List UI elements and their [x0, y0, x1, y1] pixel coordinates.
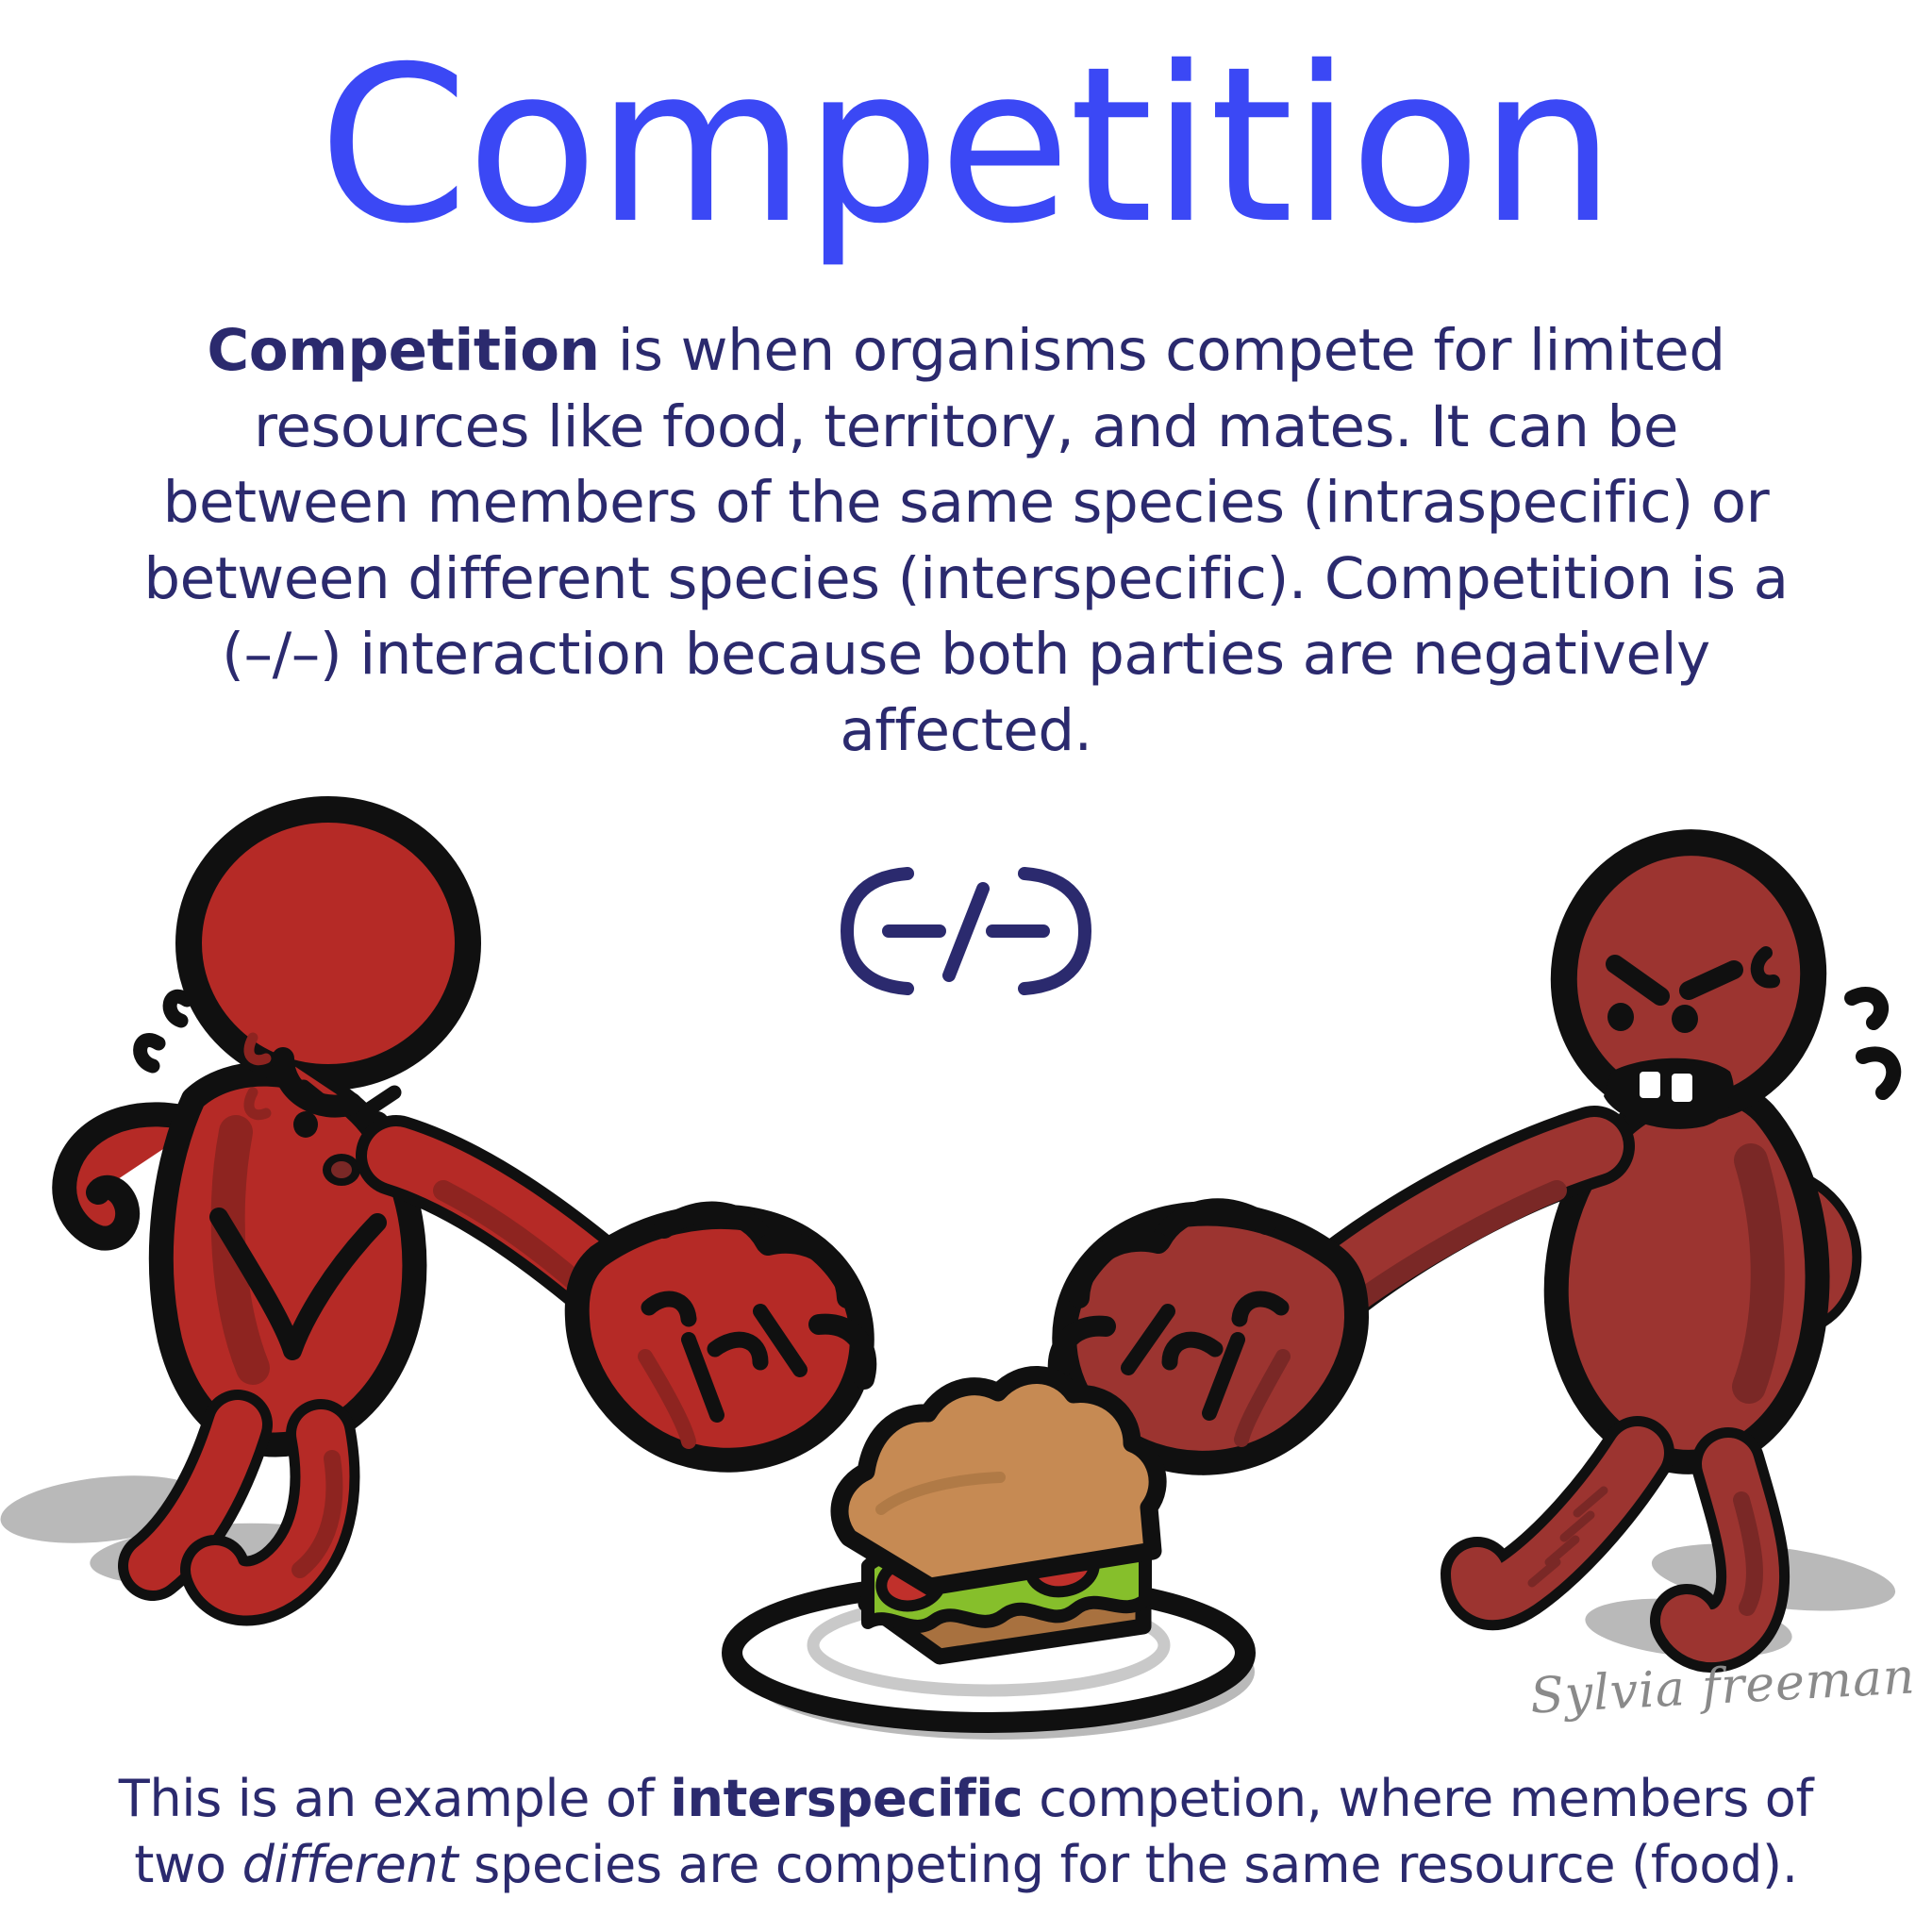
sandwich-top-bread	[840, 1374, 1158, 1587]
right-motion-marks-icon	[1852, 994, 1893, 1092]
left-motion-marks-icon	[141, 996, 187, 1066]
left-figure-grasping-hand	[577, 1212, 867, 1460]
ground-shadows	[0, 1467, 1899, 1666]
right-figure-back-arm-fill	[1740, 1183, 1840, 1314]
interaction-symbol	[0, 860, 1932, 1007]
caption-different: different	[242, 1835, 458, 1894]
plate-shadow	[745, 1604, 1255, 1740]
artist-signature: Sylvia freeman	[1529, 1648, 1917, 1724]
definition-body: is when organisms compete for limited re…	[143, 317, 1788, 764]
resource-sandwich-on-plate	[732, 1374, 1255, 1740]
right-figure-front-leg	[1687, 1464, 1753, 1636]
left-figure-back-leg	[153, 1424, 238, 1566]
left-figure-neck	[283, 1058, 351, 1107]
caption-interspecific: interspecific	[670, 1769, 1023, 1828]
left-figure-front-arm-fill	[396, 1156, 604, 1283]
definition-paragraph: Competition is when organisms compete fo…	[142, 313, 1790, 769]
sandwich-lettuce	[868, 1541, 1145, 1626]
left-figure-torso	[161, 1074, 415, 1445]
minus-minus-symbol-icon	[834, 860, 1098, 1002]
caption-line1-b: competion, where members of	[1023, 1769, 1813, 1828]
plate	[732, 1583, 1245, 1723]
left-figure-back-leg-fill	[153, 1424, 238, 1566]
left-figure-face	[249, 1038, 394, 1186]
sandwich-middle-bread	[851, 1496, 1149, 1583]
sandwich-tomato	[877, 1539, 1098, 1611]
left-figure-front-leg-shade	[300, 1458, 334, 1570]
sandwich-top-bread-shade	[881, 1477, 1000, 1509]
sandwich-bottom-bread	[866, 1560, 1143, 1657]
left-figure-front-arm-shade	[443, 1191, 600, 1304]
left-figure-torso-shade	[228, 1132, 253, 1368]
right-figure-front-arm-fill	[1328, 1146, 1594, 1291]
left-figure-front-leg	[215, 1434, 325, 1591]
caption-text: This is an example of interspecific comp…	[113, 1766, 1819, 1898]
left-figure-back-arm	[64, 1114, 203, 1238]
right-figure-back-leg-fill	[1477, 1453, 1638, 1593]
right-figure-front-leg-fill	[1687, 1464, 1753, 1636]
caption-line2-b: species are competing for the same resou…	[458, 1835, 1797, 1894]
right-figure-torso	[1557, 1091, 1818, 1462]
right-figure-front-leg-shade	[1741, 1500, 1755, 1607]
right-figure-front-arm-shade	[1338, 1191, 1557, 1317]
left-figure-chest-lines	[219, 1217, 377, 1351]
plate-inner-ring	[813, 1600, 1164, 1690]
right-figure-back-arm	[1740, 1183, 1840, 1314]
page-title: Competition	[0, 36, 1932, 256]
left-figure-front-arm	[396, 1156, 604, 1283]
left-figure-front-leg-fill	[215, 1434, 325, 1591]
right-figure-grasping-hand	[1058, 1208, 1357, 1463]
caption-line2-a: two	[134, 1835, 241, 1894]
right-figure-back-leg	[1477, 1453, 1638, 1593]
caption-line1-a: This is an example of	[119, 1769, 671, 1828]
right-figure-back-leg-hatching	[1532, 1491, 1604, 1583]
poster-canvas: Competition Competition is when organism…	[0, 0, 1932, 1932]
right-figure-torso-shade	[1749, 1160, 1768, 1387]
definition-term: Competition	[207, 317, 599, 384]
right-figure-front-arm	[1328, 1146, 1594, 1291]
